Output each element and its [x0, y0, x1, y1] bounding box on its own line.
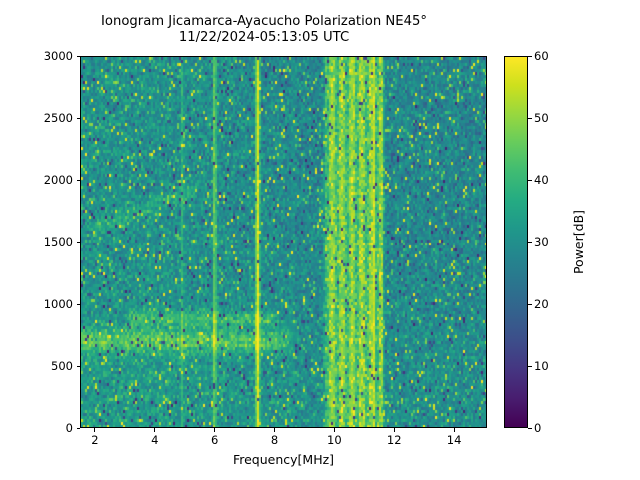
colorbar-tick-label: 0 — [534, 421, 541, 435]
colorbar-tick-label: 20 — [534, 297, 549, 311]
y-tick-label: 3000 — [0, 49, 73, 63]
x-tick-mark — [274, 428, 275, 432]
y-tick-label: 2500 — [0, 111, 73, 125]
x-axis-label: Frequency[MHz] — [80, 452, 487, 467]
y-tick-mark — [77, 242, 81, 243]
x-tick-mark — [94, 428, 95, 432]
x-tick-label: 12 — [387, 433, 402, 447]
colorbar-label: Power[dB] — [571, 56, 586, 428]
colorbar-tick-mark — [528, 56, 532, 57]
figure-title: Ionogram Jicamarca-Ayacucho Polarization… — [0, 14, 528, 46]
x-tick-mark — [214, 428, 215, 432]
colorbar-tick-label: 50 — [534, 111, 549, 125]
colorbar-tick-mark — [528, 366, 532, 367]
colorbar-tick-mark — [528, 304, 532, 305]
x-tick-mark — [334, 428, 335, 432]
y-tick-label: 0 — [0, 421, 73, 435]
y-tick-mark — [77, 56, 81, 57]
y-tick-label: 2000 — [0, 173, 73, 187]
colorbar-tick-label: 60 — [534, 49, 549, 63]
x-tick-mark — [394, 428, 395, 432]
y-tick-mark — [77, 428, 81, 429]
x-tick-label: 8 — [271, 433, 278, 447]
ionogram-figure: Ionogram Jicamarca-Ayacucho Polarization… — [0, 0, 640, 480]
colorbar-tick-mark — [528, 180, 532, 181]
x-tick-mark — [154, 428, 155, 432]
colorbar-tick-mark — [528, 118, 532, 119]
x-tick-label: 10 — [327, 433, 342, 447]
x-tick-label: 2 — [91, 433, 98, 447]
y-tick-label: 1500 — [0, 235, 73, 249]
x-tick-mark — [454, 428, 455, 432]
y-tick-mark — [77, 366, 81, 367]
ionogram-heatmap — [81, 57, 486, 427]
y-tick-label: 500 — [0, 359, 73, 373]
colorbar-tick-label: 30 — [534, 235, 549, 249]
title-main-line: Ionogram Jicamarca-Ayacucho Polarization… — [0, 14, 528, 30]
y-tick-mark — [77, 118, 81, 119]
y-tick-label: 1000 — [0, 297, 73, 311]
y-tick-mark — [77, 180, 81, 181]
colorbar-tick-label: 10 — [534, 359, 549, 373]
colorbar-tick-mark — [528, 428, 532, 429]
colorbar-gradient — [505, 57, 527, 427]
ionogram-axes — [80, 56, 487, 428]
colorbar-tick-label: 40 — [534, 173, 549, 187]
power-colorbar — [504, 56, 528, 428]
y-tick-mark — [77, 304, 81, 305]
x-tick-label: 6 — [211, 433, 218, 447]
x-tick-label: 14 — [447, 433, 462, 447]
title-subtitle-line: 11/22/2024-05:13:05 UTC — [0, 30, 528, 46]
x-tick-label: 4 — [151, 433, 158, 447]
colorbar-tick-mark — [528, 242, 532, 243]
